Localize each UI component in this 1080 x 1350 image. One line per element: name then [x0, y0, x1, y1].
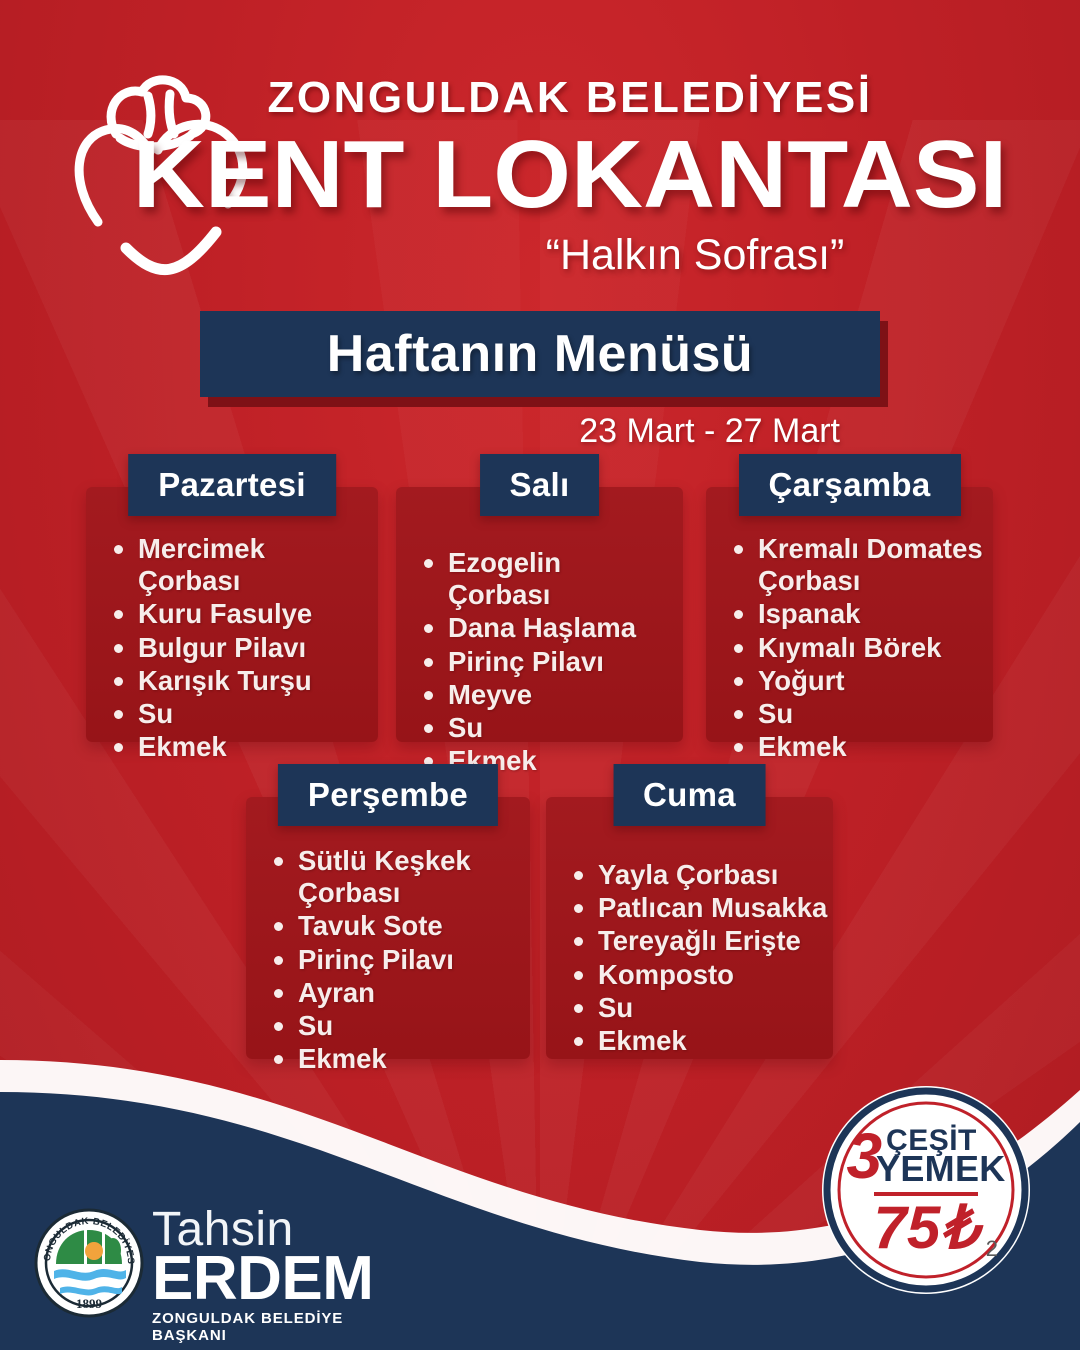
day-card-pazartesi: Pazartesi Mercimek Çorbası Kuru Fasulye …	[86, 487, 378, 742]
menu-item: Kıymalı Börek	[728, 632, 985, 664]
menu-item: Karışık Turşu	[108, 665, 366, 697]
day-name: Perşembe	[308, 776, 468, 814]
day-name: Çarşamba	[769, 466, 931, 504]
municipality-name: ZONGULDAK BELEDİYESİ	[60, 76, 1080, 120]
banner-box: Haftanın Menüsü	[200, 311, 880, 397]
menu-item: Kremalı Domates Çorbası	[728, 533, 985, 597]
badge-word-bottom: YEMEK	[876, 1154, 1006, 1185]
day-tab-persembe: Perşembe	[278, 764, 498, 826]
week-banner: Haftanın Menüsü	[200, 311, 880, 397]
zonguldak-municipality-seal-icon: 1899 ZONGULDAK BELEDİYESİ	[34, 1208, 144, 1318]
menu-item: Pirinç Pilavı	[418, 646, 671, 678]
day-tab-carsamba: Çarşamba	[739, 454, 961, 516]
day-name: Pazartesi	[158, 466, 306, 504]
slogan: “Halkın Sofrası”	[60, 234, 1080, 277]
menu-item: Mercimek Çorbası	[108, 533, 366, 597]
menu-item: Ispanak	[728, 598, 985, 630]
day-tab-sali: Salı	[480, 454, 600, 516]
price-badge: 3 ÇEŞİT YEMEK 75₺ 2	[820, 1084, 1032, 1296]
menu-item: Tereyağlı Erişte	[568, 925, 829, 957]
menu-item: Komposto	[568, 959, 829, 991]
menu-poster: ZONGULDAK BELEDİYESİ KENT LOKANTASI “Hal…	[0, 0, 1080, 1350]
menu-item: Dana Haşlama	[418, 612, 671, 644]
menu-list-carsamba: Kremalı Domates Çorbası Ispanak Kıymalı …	[728, 533, 985, 764]
menu-list-pazartesi: Mercimek Çorbası Kuru Fasulye Bulgur Pil…	[108, 533, 366, 764]
day-card-sali: Salı Ezogelin Çorbası Dana Haşlama Pirin…	[396, 487, 683, 742]
badge-artifact-number: 2	[986, 1236, 998, 1262]
menu-item: Ekmek	[728, 731, 985, 763]
day-tab-pazartesi: Pazartesi	[128, 454, 336, 516]
date-range: 23 Mart - 27 Mart	[579, 412, 840, 451]
menu-item: Ezogelin Çorbası	[418, 547, 671, 611]
mayor-role: ZONGULDAK BELEDİYE BAŞKANI	[152, 1310, 412, 1344]
menu-item: Yoğurt	[728, 665, 985, 697]
menu-item: Yayla Çorbası	[568, 859, 829, 891]
day-name: Salı	[510, 466, 570, 504]
day-name: Cuma	[643, 776, 736, 814]
banner-title: Haftanın Menüsü	[327, 324, 753, 384]
day-card-cuma: Cuma Yayla Çorbası Patlıcan Musakka Tere…	[546, 797, 833, 1059]
menu-item: Ayran	[268, 977, 522, 1009]
menu-item: Su	[568, 992, 829, 1024]
mayor-last-name: ERDEM	[152, 1250, 412, 1307]
menu-item: Su	[418, 712, 671, 744]
day-tab-cuma: Cuma	[613, 764, 766, 826]
seal-year: 1899	[76, 1296, 103, 1311]
day-card-persembe: Perşembe Sütlü Keşkek Çorbası Tavuk Sote…	[246, 797, 530, 1059]
menu-item: Bulgur Pilavı	[108, 632, 366, 664]
menu-item: Kuru Fasulye	[108, 598, 366, 630]
menu-item: Sütlü Keşkek Çorbası	[268, 845, 522, 909]
page-title: KENT LOKANTASI	[40, 126, 1080, 224]
menu-list-sali: Ezogelin Çorbası Dana Haşlama Pirinç Pil…	[418, 547, 671, 778]
menu-item: Tavuk Sote	[268, 910, 522, 942]
menu-item: Pirinç Pilavı	[268, 944, 522, 976]
menu-item: Meyve	[418, 679, 671, 711]
menu-item: Su	[728, 698, 985, 730]
brand-block: ZONGULDAK BELEDİYESİ KENT LOKANTASI “Hal…	[0, 76, 1080, 277]
badge-price: 75₺	[874, 1198, 979, 1258]
menu-item: Ekmek	[108, 731, 366, 763]
menu-item: Su	[108, 698, 366, 730]
mayor-signature-block: Tahsin ERDEM ZONGULDAK BELEDİYE BAŞKANI	[152, 1207, 412, 1344]
menu-item: Patlıcan Musakka	[568, 892, 829, 924]
day-card-carsamba: Çarşamba Kremalı Domates Çorbası Ispanak…	[706, 487, 993, 742]
menu-list-cuma: Yayla Çorbası Patlıcan Musakka Tereyağlı…	[568, 859, 829, 1058]
